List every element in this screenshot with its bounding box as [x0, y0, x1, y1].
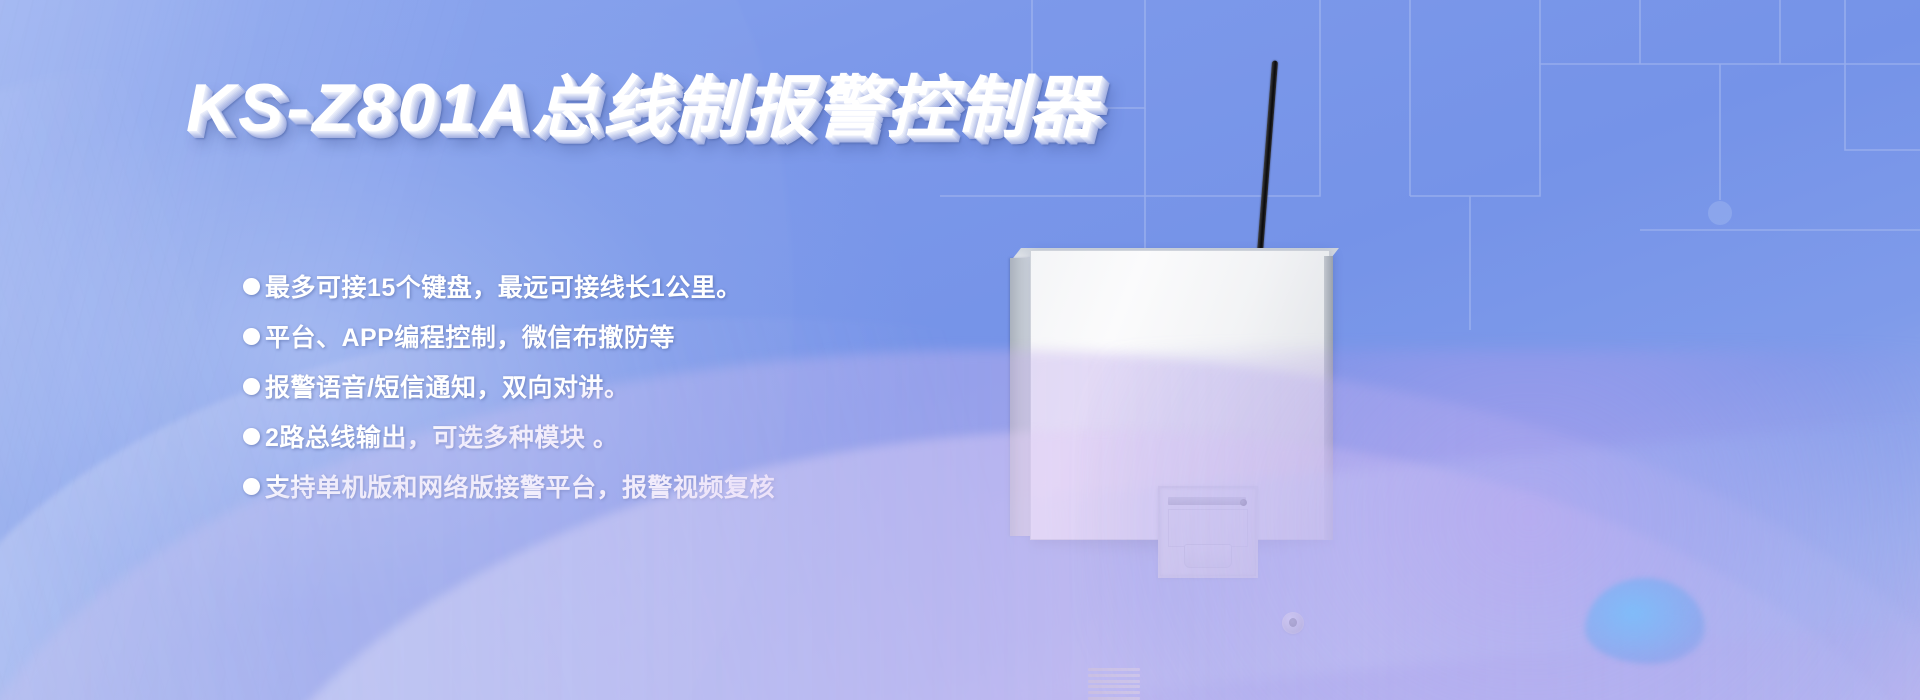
list-item: 平台、APP编程控制，微信布撤防等	[243, 318, 775, 354]
bullet-dot-icon	[243, 428, 260, 445]
violet-glow	[1080, 350, 1920, 700]
feature-text: 最多可接15个键盘，最远可接线长1公里。	[265, 268, 742, 304]
bullet-dot-icon	[243, 278, 260, 295]
feature-text: 平台、APP编程控制，微信布撤防等	[265, 318, 675, 354]
bullet-dot-icon	[243, 328, 260, 345]
product-banner: KS-Z801A总线制报警控制器 最多可接15个键盘，最远可接线长1公里。 平台…	[0, 0, 1920, 700]
page-title: KS-Z801A总线制报警控制器	[186, 74, 1099, 142]
list-item: 最多可接15个键盘，最远可接线长1公里。	[243, 268, 775, 304]
circuit-node-dot	[1708, 201, 1732, 225]
bullet-dot-icon	[243, 378, 260, 395]
bullet-dot-icon	[243, 478, 260, 495]
antenna-rod	[1256, 60, 1278, 265]
